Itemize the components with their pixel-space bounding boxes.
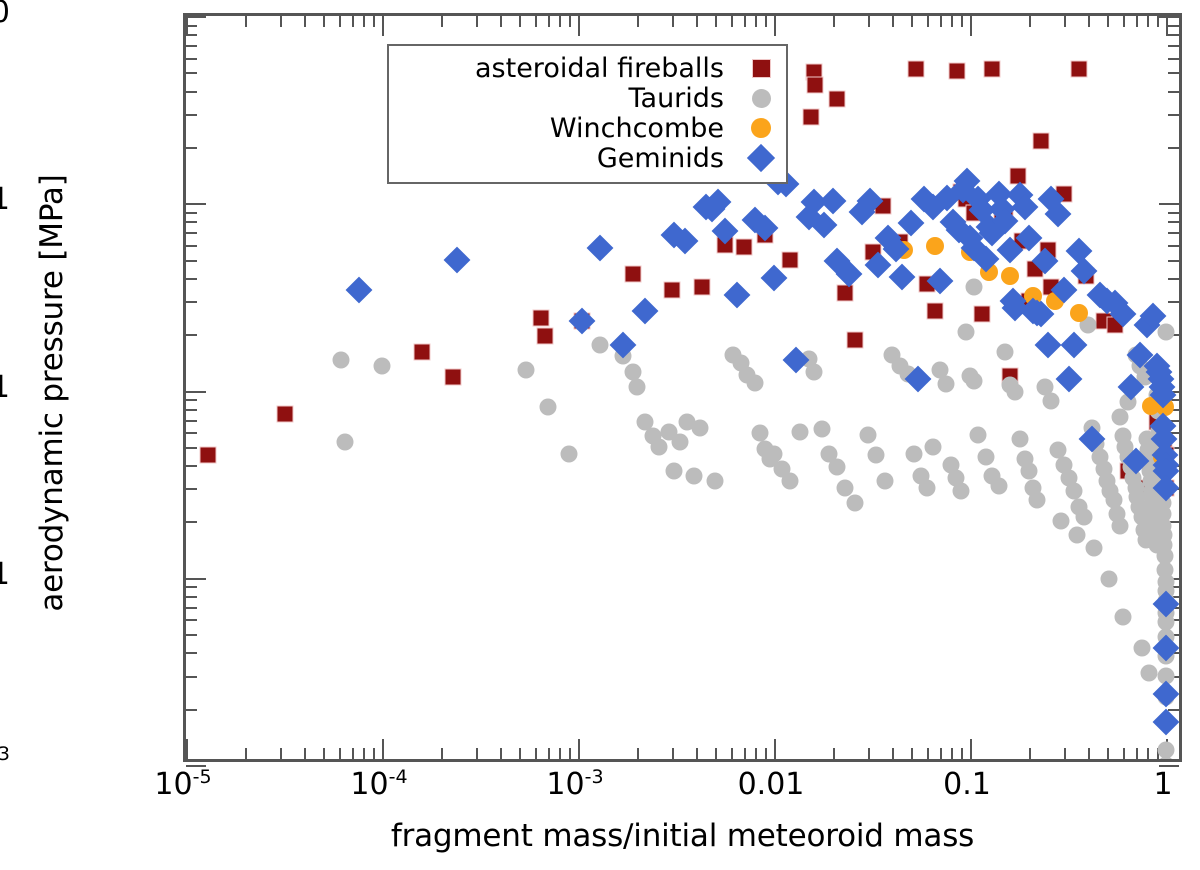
- legend-item-taurids[interactable]: Taurids: [389, 83, 786, 113]
- data-point: [977, 449, 994, 466]
- data-point: [926, 237, 944, 255]
- x-tick-label: 10-4: [299, 770, 459, 800]
- legend-item-geminids[interactable]: Geminids: [389, 143, 786, 173]
- data-point: [906, 445, 923, 462]
- data-point: [671, 434, 688, 451]
- data-point: [444, 369, 461, 386]
- data-point: [1114, 608, 1131, 625]
- data-point: [1009, 167, 1026, 184]
- data-point: [813, 421, 830, 438]
- data-point: [747, 374, 764, 391]
- data-point: [966, 373, 983, 390]
- data-point: [539, 398, 556, 415]
- x-tick-label: 1: [1083, 770, 1200, 800]
- data-point: [766, 445, 783, 462]
- data-point: [1111, 517, 1128, 534]
- data-point: [1100, 571, 1117, 588]
- data-point: [807, 76, 824, 93]
- legend-item-label: Winchcombe: [550, 115, 724, 142]
- y-tick-label: 1: [0, 185, 10, 215]
- data-point: [859, 426, 876, 443]
- data-point: [1012, 431, 1029, 448]
- data-point: [1075, 509, 1092, 526]
- data-point: [1061, 332, 1088, 359]
- data-point: [1021, 463, 1038, 480]
- y-tick-label: 0.1: [0, 373, 10, 403]
- data-point: [889, 263, 916, 290]
- data-point: [629, 378, 646, 395]
- data-point: [1029, 492, 1046, 509]
- data-point: [836, 285, 853, 302]
- data-point: [561, 445, 578, 462]
- y-axis-title: aerodynamic pressure [MPa]: [34, 83, 70, 703]
- data-point: [443, 246, 470, 273]
- legend-marker-circle-icon: [746, 89, 776, 108]
- data-point: [517, 362, 534, 379]
- legend: asteroidal fireballsTauridsWinchcombeGem…: [387, 44, 788, 184]
- data-point: [907, 61, 924, 78]
- data-point: [1068, 526, 1085, 543]
- data-point: [707, 472, 724, 489]
- data-point: [829, 459, 846, 476]
- data-point: [990, 477, 1007, 494]
- data-point: [1153, 680, 1179, 707]
- data-point: [1066, 238, 1093, 265]
- data-point: [918, 480, 935, 497]
- data-point: [829, 91, 846, 108]
- data-point: [1153, 635, 1179, 662]
- data-point: [1032, 133, 1049, 150]
- axis-tick: [1159, 765, 1179, 767]
- data-point: [984, 61, 1001, 78]
- data-point: [957, 324, 974, 341]
- data-point: [724, 281, 751, 308]
- x-tick-label: 0.1: [887, 770, 1047, 800]
- data-point: [791, 424, 808, 441]
- x-tick-label: 10-5: [103, 770, 263, 800]
- data-point: [973, 306, 990, 323]
- data-point: [1035, 332, 1062, 359]
- data-point: [537, 328, 554, 345]
- data-point: [666, 463, 683, 480]
- data-point: [1056, 366, 1083, 393]
- data-point: [685, 467, 702, 484]
- y-tick-label: 10-3: [0, 747, 10, 777]
- data-point: [926, 303, 943, 320]
- data-point: [200, 447, 217, 464]
- plot-area: asteroidal fireballsTauridsWinchcombeGem…: [183, 13, 1182, 762]
- data-point: [996, 344, 1013, 361]
- legend-item-label: Geminids: [597, 145, 724, 172]
- data-point: [337, 434, 354, 451]
- data-point: [1066, 483, 1083, 500]
- data-point: [761, 264, 788, 291]
- data-point: [806, 364, 823, 381]
- data-point: [1158, 324, 1175, 341]
- legend-marker-circle-icon: [746, 118, 776, 138]
- data-point: [1070, 304, 1088, 322]
- data-point: [836, 480, 853, 497]
- data-point: [1071, 61, 1088, 78]
- data-point: [651, 438, 668, 455]
- data-point: [694, 279, 711, 296]
- data-point: [1111, 409, 1128, 426]
- data-point: [692, 420, 709, 437]
- data-point: [1086, 539, 1103, 556]
- data-point: [1052, 513, 1069, 530]
- data-point: [1043, 392, 1060, 409]
- data-point: [970, 426, 987, 443]
- legend-item-label: asteroidal fireballs: [475, 55, 724, 82]
- data-point: [803, 108, 820, 125]
- data-point: [847, 332, 864, 349]
- legend-marker-diamond-icon: [746, 148, 776, 168]
- data-point: [1133, 640, 1150, 657]
- data-point: [277, 405, 294, 422]
- legend-marker-square-icon: [746, 59, 776, 78]
- data-point: [663, 281, 680, 298]
- data-point: [847, 495, 864, 512]
- data-point: [1141, 664, 1158, 681]
- scatter-plot-figure: aerodynamic pressure [MPa] fragment mass…: [0, 0, 1200, 870]
- data-point: [925, 438, 942, 455]
- data-point: [345, 276, 372, 303]
- data-point: [735, 238, 752, 255]
- data-point: [1153, 708, 1179, 735]
- data-point: [624, 265, 641, 282]
- data-point: [1153, 591, 1179, 618]
- data-point: [533, 309, 550, 326]
- data-point: [781, 251, 798, 268]
- data-point: [867, 447, 884, 464]
- x-tick-label: 0.01: [691, 770, 851, 800]
- legend-item-winchcombe[interactable]: Winchcombe: [389, 113, 786, 143]
- data-point: [632, 298, 659, 325]
- data-point: [587, 234, 614, 261]
- legend-item-label: Taurids: [629, 85, 725, 112]
- data-point: [592, 336, 609, 353]
- data-point: [966, 279, 983, 296]
- x-axis-title: fragment mass/initial meteoroid mass: [183, 818, 1182, 854]
- y-tick-label: 0.01: [0, 560, 10, 590]
- data-point: [781, 472, 798, 489]
- axis-tick: [186, 765, 206, 767]
- data-point: [1007, 384, 1024, 401]
- data-point: [953, 483, 970, 500]
- data-point: [414, 344, 431, 361]
- data-point: [937, 376, 954, 393]
- data-point: [333, 352, 350, 369]
- data-point: [1001, 267, 1019, 285]
- data-point: [374, 358, 391, 375]
- x-tick-label: 10-3: [495, 770, 655, 800]
- data-point: [949, 62, 966, 79]
- y-tick-label: 10: [0, 0, 10, 28]
- legend-item-asteroidal-fireballs[interactable]: asteroidal fireballs: [389, 53, 786, 83]
- data-point: [877, 472, 894, 489]
